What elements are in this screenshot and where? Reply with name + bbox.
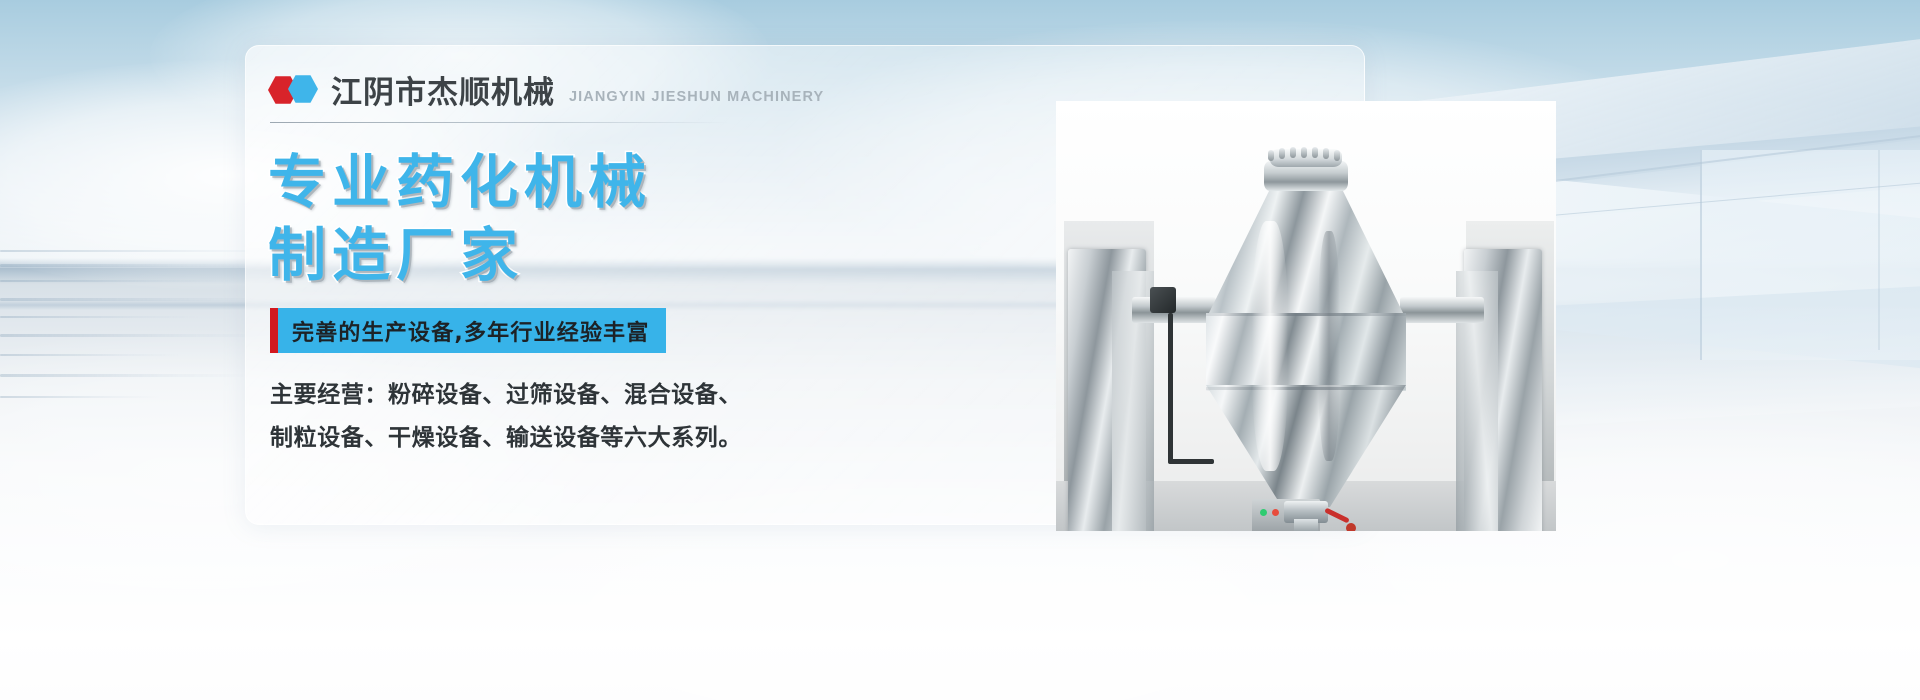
water-streak (0, 280, 230, 282)
description-line-2: 制粒设备、干燥设备、输送设备等六大系列。 (270, 417, 742, 460)
machine-shaft-right (1400, 297, 1484, 323)
building-edge-line (1700, 150, 1702, 360)
building-edge-line (1878, 150, 1880, 350)
machine-valve-knob (1346, 523, 1356, 531)
product-image (1056, 101, 1556, 531)
headline-line-1: 专业药化机械 (268, 146, 652, 219)
machine-motor (1150, 287, 1176, 313)
machine-valve-neck (1294, 519, 1318, 531)
machine-bolt (1268, 150, 1274, 161)
machine-bolt (1279, 148, 1285, 159)
hexagon-icon-blue (288, 74, 318, 104)
brand-name-en: JIANGYIN JIESHUN MACHINERY (569, 89, 824, 105)
content-card: 江阴市杰顺机械 JIANGYIN JIESHUN MACHINERY 专业药化机… (245, 45, 1365, 525)
water-streak (0, 396, 160, 398)
machine-cone-middle (1206, 313, 1406, 391)
description-block: 主要经营：粉碎设备、过筛设备、混合设备、 制粒设备、干燥设备、输送设备等六大系列… (270, 374, 742, 459)
hero-banner: 江阴市杰顺机械 JIANGYIN JIESHUN MACHINERY 专业药化机… (0, 0, 1920, 700)
machine-bolt (1312, 147, 1318, 158)
machine-bolt (1290, 147, 1296, 158)
water-streak (0, 374, 250, 377)
machine-highlight (1252, 221, 1288, 471)
machine-shadow (1318, 231, 1340, 461)
brand-logo: 江阴市杰顺机械 JIANGYIN JIESHUN MACHINERY (268, 74, 824, 109)
headline: 专业药化机械 制造厂家 (268, 146, 652, 291)
machine-bolt (1301, 147, 1307, 158)
logo-divider (270, 122, 728, 123)
machine-cable (1168, 459, 1214, 464)
machine-bolt (1334, 150, 1340, 161)
machine-weld-band (1206, 387, 1406, 390)
brand-name-cn: 江阴市杰顺机械 (331, 78, 555, 109)
water-streak (0, 316, 200, 318)
water-streak (0, 264, 265, 267)
water-streak (0, 334, 275, 337)
machine-bolt (1323, 148, 1329, 159)
logo-mark (268, 74, 324, 104)
machine-weld-band (1206, 313, 1406, 316)
machine-panel-button (1272, 509, 1279, 516)
headline-line-2: 制造厂家 (268, 219, 652, 292)
tagline-text: 完善的生产设备,多年行业经验丰富 (292, 315, 650, 347)
water-streak (0, 354, 180, 356)
description-line-1: 主要经营：粉碎设备、过筛设备、混合设备、 (270, 374, 742, 417)
tagline-bar: 完善的生产设备,多年行业经验丰富 (270, 308, 666, 353)
machine-panel-button (1260, 509, 1267, 516)
machine-cable (1168, 313, 1173, 463)
